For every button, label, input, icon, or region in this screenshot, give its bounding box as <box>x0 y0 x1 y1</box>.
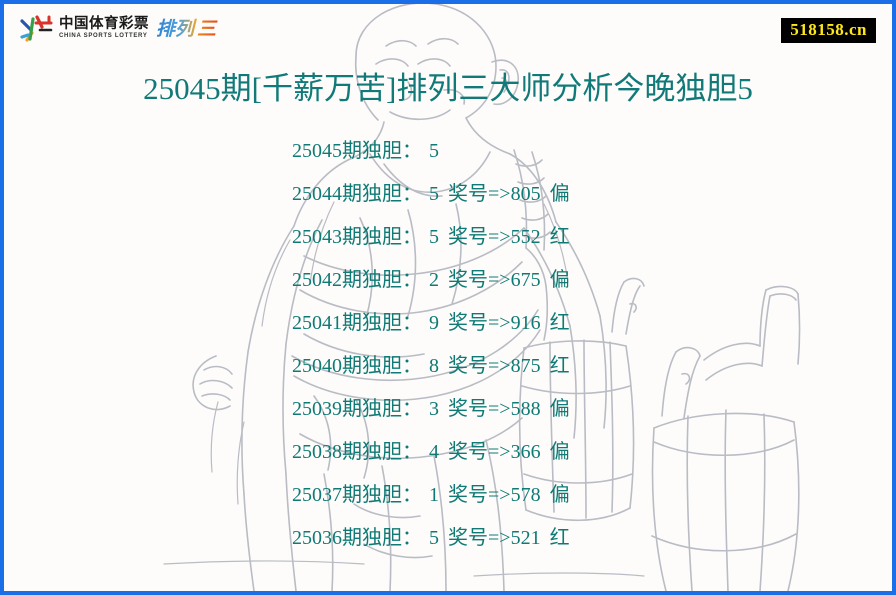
prize-number: 588 <box>511 398 541 420</box>
forecast-row: 25045期独胆：5 <box>292 130 632 173</box>
issue-label: 期独胆： <box>342 527 422 549</box>
result-badge: 偏 <box>550 484 570 506</box>
forecast-row: 25037期独胆：1奖号=>578偏 <box>292 474 632 517</box>
dan-value: 8 <box>429 355 439 377</box>
prize-label: 奖号=> <box>448 484 511 506</box>
issue-number: 25036 <box>292 527 342 549</box>
issue-label: 期独胆： <box>342 183 422 205</box>
prize-label: 奖号=> <box>448 527 511 549</box>
result-badge: 红 <box>550 355 570 377</box>
prize-number: 875 <box>511 355 541 377</box>
site-watermark: 518158.cn <box>781 18 876 43</box>
site-header: 中国体育彩票 CHINA SPORTS LOTTERY <box>4 4 892 54</box>
result-badge: 偏 <box>550 441 570 463</box>
issue-number: 25044 <box>292 183 342 205</box>
forecast-row: 25041期独胆：9奖号=>916红 <box>292 302 632 345</box>
svg-text:三: 三 <box>197 18 218 40</box>
dan-value: 5 <box>429 527 439 549</box>
dan-value: 4 <box>429 441 439 463</box>
prize-number: 916 <box>511 312 541 334</box>
dan-value: 2 <box>429 269 439 291</box>
prize-number: 675 <box>511 269 541 291</box>
prize-label: 奖号=> <box>448 441 511 463</box>
issue-label: 期独胆： <box>342 484 422 506</box>
dan-value: 5 <box>429 226 439 248</box>
result-badge: 红 <box>550 527 570 549</box>
issue-label: 期独胆： <box>342 140 422 162</box>
issue-number: 25040 <box>292 355 342 377</box>
svg-text:排列: 排列 <box>156 18 197 40</box>
issue-number: 25043 <box>292 226 342 248</box>
dan-value: 5 <box>429 140 439 162</box>
prize-label: 奖号=> <box>448 355 511 377</box>
forecast-list: 25045期独胆：525044期独胆：5奖号=>805偏25043期独胆：5奖号… <box>292 130 632 560</box>
prize-number: 578 <box>511 484 541 506</box>
prize-label: 奖号=> <box>448 398 511 420</box>
prize-label: 奖号=> <box>448 226 511 248</box>
prize-label: 奖号=> <box>448 269 511 291</box>
result-badge: 偏 <box>550 269 570 291</box>
forecast-row: 25042期独胆：2奖号=>675偏 <box>292 259 632 302</box>
forecast-row: 25039期独胆：3奖号=>588偏 <box>292 388 632 431</box>
brand-logo[interactable]: 中国体育彩票 CHINA SPORTS LOTTERY <box>20 10 222 46</box>
issue-number: 25039 <box>292 398 342 420</box>
forecast-row: 25038期独胆：4奖号=>366偏 <box>292 431 632 474</box>
issue-label: 期独胆： <box>342 441 422 463</box>
brand-name-en: CHINA SPORTS LOTTERY <box>59 33 149 39</box>
issue-number: 25042 <box>292 269 342 291</box>
result-badge: 偏 <box>550 183 570 205</box>
forecast-row: 25043期独胆：5奖号=>552红 <box>292 216 632 259</box>
page-title: 25045期[千薪万苦]排列三大师分析今晚独胆5 <box>4 63 892 108</box>
prize-number: 552 <box>511 226 541 248</box>
issue-label: 期独胆： <box>342 312 422 334</box>
dan-value: 3 <box>429 398 439 420</box>
result-badge: 红 <box>550 312 570 334</box>
issue-label: 期独胆： <box>342 269 422 291</box>
brand-game-name: 排列 三 <box>156 15 222 41</box>
brand-name-cn: 中国体育彩票 <box>59 17 149 32</box>
sports-lottery-mark-icon <box>20 13 54 43</box>
issue-label: 期独胆： <box>342 398 422 420</box>
forecast-row: 25036期独胆：5奖号=>521红 <box>292 517 632 560</box>
result-badge: 红 <box>550 226 570 248</box>
issue-number: 25041 <box>292 312 342 334</box>
issue-number: 25037 <box>292 484 342 506</box>
issue-label: 期独胆： <box>342 226 422 248</box>
dan-value: 9 <box>429 312 439 334</box>
issue-label: 期独胆： <box>342 355 422 377</box>
forecast-row: 25040期独胆：8奖号=>875红 <box>292 345 632 388</box>
prize-number: 521 <box>511 527 541 549</box>
prize-number: 805 <box>511 183 541 205</box>
dan-value: 5 <box>429 183 439 205</box>
page-root: 中国体育彩票 CHINA SPORTS LOTTERY <box>0 0 896 595</box>
issue-number: 25038 <box>292 441 342 463</box>
issue-number: 25045 <box>292 140 342 162</box>
prize-number: 366 <box>511 441 541 463</box>
prize-label: 奖号=> <box>448 312 511 334</box>
forecast-row: 25044期独胆：5奖号=>805偏 <box>292 173 632 216</box>
result-badge: 偏 <box>550 398 570 420</box>
dan-value: 1 <box>429 484 439 506</box>
prize-label: 奖号=> <box>448 183 511 205</box>
